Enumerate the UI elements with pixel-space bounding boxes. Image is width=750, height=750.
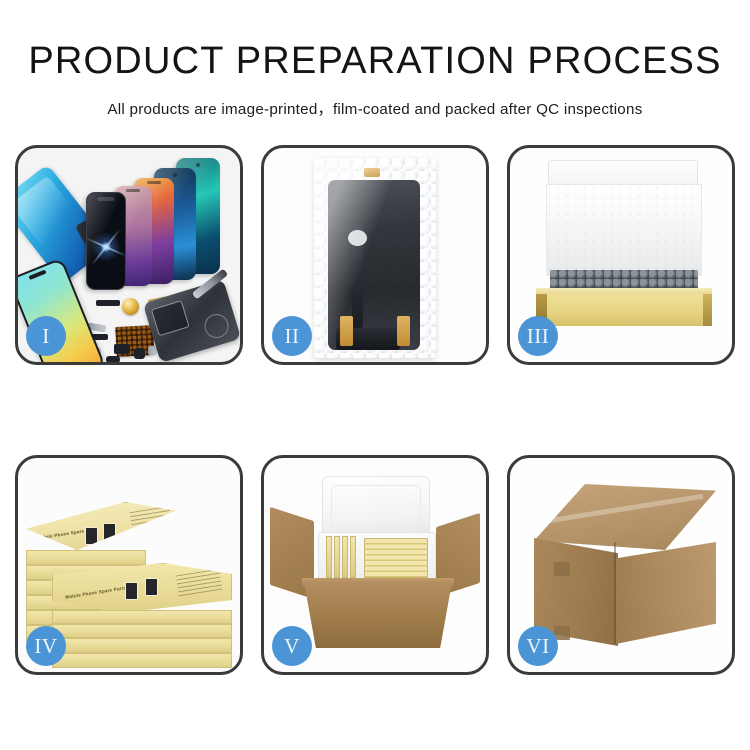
- process-step-panel-4: Mobile Phone Spare Parts Mobile Phone Sp…: [15, 455, 243, 675]
- process-step-panel-6: VI: [507, 455, 735, 675]
- process-step-panel-2: II: [261, 145, 489, 365]
- step-badge-6: VI: [518, 626, 558, 666]
- step-badge-4: IV: [26, 626, 66, 666]
- packed-yellow-box: [350, 536, 356, 578]
- bubble-wrap-bag-icon: [314, 158, 436, 358]
- box-label-fineprint: [130, 506, 173, 532]
- product-components-illustration: I: [18, 148, 240, 362]
- earpiece-notch-icon: [98, 197, 115, 201]
- box-label-fineprint: [176, 569, 223, 598]
- box-label-thumbnail: [125, 582, 138, 600]
- packed-yellow-box-layer: [364, 538, 428, 578]
- stacked-box: [52, 610, 232, 624]
- spare-part-strip-icon: [96, 300, 120, 306]
- inner-box-foam-illustration: III: [510, 148, 732, 362]
- stacked-box: [52, 638, 232, 653]
- plastic-gloss-overlay: [314, 158, 436, 358]
- packed-yellow-box: [326, 536, 332, 578]
- phone-display-fan: [80, 156, 243, 286]
- sealed-shipping-carton-illustration: VI: [510, 458, 732, 672]
- step-badge-2: II: [272, 316, 312, 356]
- wallpaper-burst-icon: [89, 230, 123, 264]
- gold-component-icon: [122, 298, 139, 315]
- box-label-thumbnail: [103, 523, 116, 541]
- box-label-thumbnail: [145, 578, 158, 596]
- carton-front-icon: [304, 582, 452, 648]
- kraft-box-front-icon: [536, 294, 712, 326]
- bubble-wrap-packing-illustration: II: [264, 148, 486, 362]
- step-badge-1: I: [26, 316, 66, 356]
- product-preparation-infographic: PRODUCT PREPARATION PROCESS All products…: [0, 0, 750, 750]
- step-badge-3: III: [518, 316, 558, 356]
- spare-part-vibrator-icon: [106, 356, 120, 363]
- notch-icon: [147, 181, 161, 184]
- punch-hole-icon: [173, 173, 177, 177]
- foam-sheet-icon: [546, 184, 702, 276]
- spare-part-speaker-icon: [134, 348, 145, 359]
- process-step-panel-5: V: [261, 455, 489, 675]
- spare-part-chip-icon: [114, 344, 130, 354]
- notch-icon: [126, 189, 140, 192]
- phone-display-dark-front-glass-icon: [86, 192, 126, 290]
- process-step-panel-1: I: [15, 145, 243, 365]
- box-label-text: Mobile Phone Spare Parts: [65, 585, 127, 600]
- page-title: PRODUCT PREPARATION PROCESS: [0, 42, 750, 80]
- styrofoam-lid-icon: [322, 476, 430, 536]
- step-badge-5: V: [272, 626, 312, 666]
- stacked-box-top-lid: Mobile Phone Spare Parts: [26, 502, 176, 550]
- process-step-grid: I II: [15, 145, 735, 675]
- packed-yellow-box: [342, 536, 348, 578]
- packed-yellow-box: [334, 536, 340, 578]
- styrofoam-carton-packing-illustration: V: [264, 458, 486, 672]
- page-subtitle: All products are image-printed，film-coat…: [0, 97, 750, 119]
- carton-tape-patch-upper-icon: [554, 562, 570, 576]
- stacked-box: [52, 653, 232, 668]
- carton-vertical-edge-icon: [614, 542, 616, 644]
- carton-right-face-icon: [616, 542, 716, 644]
- process-step-panel-3: III: [507, 145, 735, 365]
- stacked-box: [52, 624, 232, 638]
- box-label-thumbnail: [85, 527, 98, 545]
- notch-icon: [28, 270, 46, 280]
- header: PRODUCT PREPARATION PROCESS All products…: [0, 0, 750, 119]
- stacked-box: [26, 550, 146, 565]
- punch-hole-icon: [196, 163, 200, 167]
- stacked-retail-boxes-illustration: Mobile Phone Spare Parts Mobile Phone Sp…: [18, 458, 240, 672]
